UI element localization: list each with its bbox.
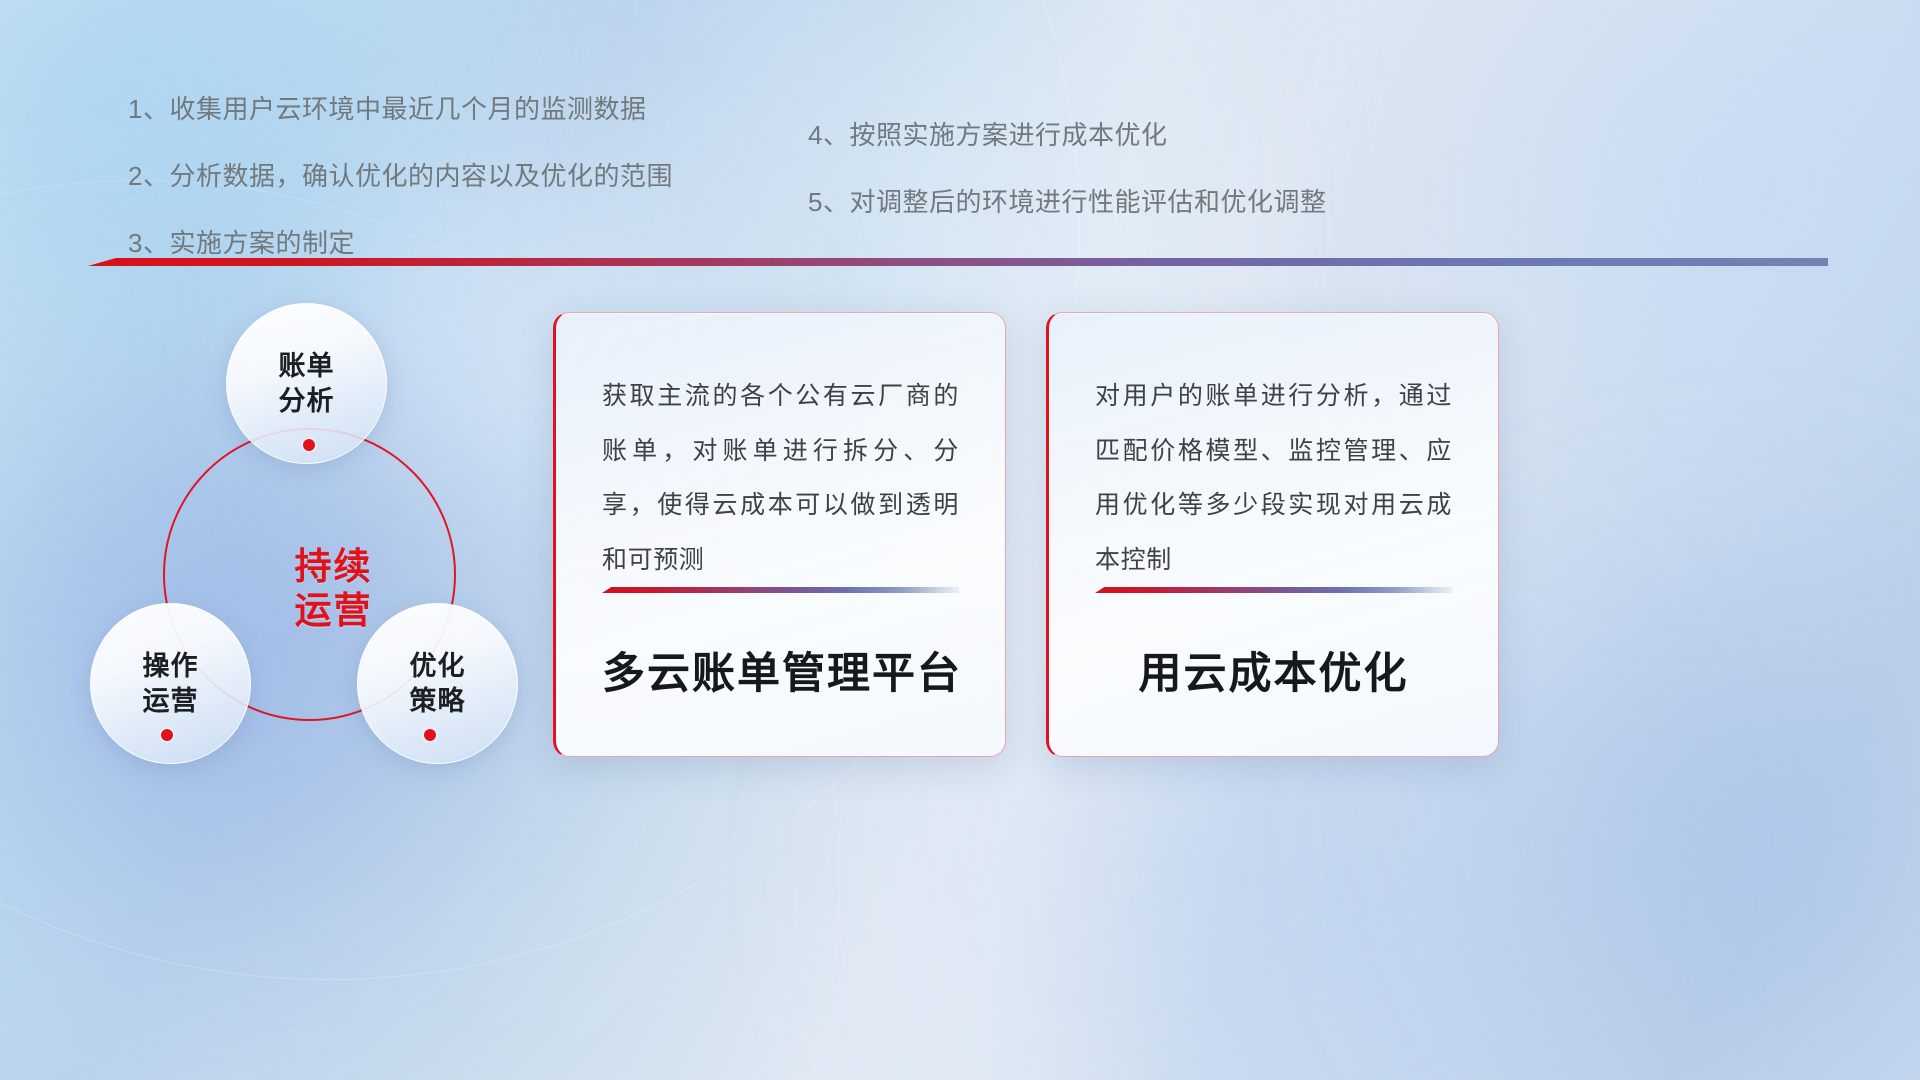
bubble-label-optimize-policy: 优化 策略 <box>410 649 466 718</box>
bubble-label-bill-analysis: 账单 分析 <box>279 349 335 418</box>
step-item-3: 3、实施方案的制定 <box>128 230 828 256</box>
connector-node-left-icon <box>161 729 173 741</box>
card-body-1: 获取主流的各个公有云厂商的账单，对账单进行拆分、分享，使得云成本可以做到透明和可… <box>602 369 959 587</box>
card-divider-bar-1 <box>602 587 959 593</box>
card-cloud-cost-optimization[interactable]: 对用户的账单进行分析，通过匹配价格模型、监控管理、应用优化等多少段实现对用云成本… <box>1046 312 1499 757</box>
connector-node-top-icon <box>303 439 315 451</box>
connector-node-right-icon <box>424 729 436 741</box>
bubble-label-ops-operation: 操作 运营 <box>143 649 199 718</box>
step-item-5: 5、对调整后的环境进行性能评估和优化调整 <box>808 189 1528 215</box>
step-item-1: 1、收集用户云环境中最近几个月的监测数据 <box>128 96 828 122</box>
card-divider-bar-2 <box>1095 587 1452 593</box>
card-title-1: 多云账单管理平台 <box>602 587 959 761</box>
step-item-2: 2、分析数据，确认优化的内容以及优化的范围 <box>128 163 828 189</box>
bubble-optimize-policy[interactable]: 优化 策略 <box>357 603 518 764</box>
card-body-2: 对用户的账单进行分析，通过匹配价格模型、监控管理、应用优化等多少段实现对用云成本… <box>1095 369 1452 587</box>
slide-content: 1、收集用户云环境中最近几个月的监测数据 2、分析数据，确认优化的内容以及优化的… <box>0 0 1920 1080</box>
steps-list-left: 1、收集用户云环境中最近几个月的监测数据 2、分析数据，确认优化的内容以及优化的… <box>128 96 828 297</box>
steps-list-right: 4、按照实施方案进行成本优化 5、对调整后的环境进行性能评估和优化调整 <box>808 122 1528 256</box>
section-divider-rule <box>88 258 1828 266</box>
continuous-operation-diagram: 账单 分析 操作 运营 优化 策略 持续 运营 <box>85 295 545 765</box>
card-title-2: 用云成本优化 <box>1095 587 1452 761</box>
card-multi-cloud-billing-platform[interactable]: 获取主流的各个公有云厂商的账单，对账单进行拆分、分享，使得云成本可以做到透明和可… <box>553 312 1006 757</box>
step-item-4: 4、按照实施方案进行成本优化 <box>808 122 1528 148</box>
section-divider-bar <box>88 258 1828 266</box>
